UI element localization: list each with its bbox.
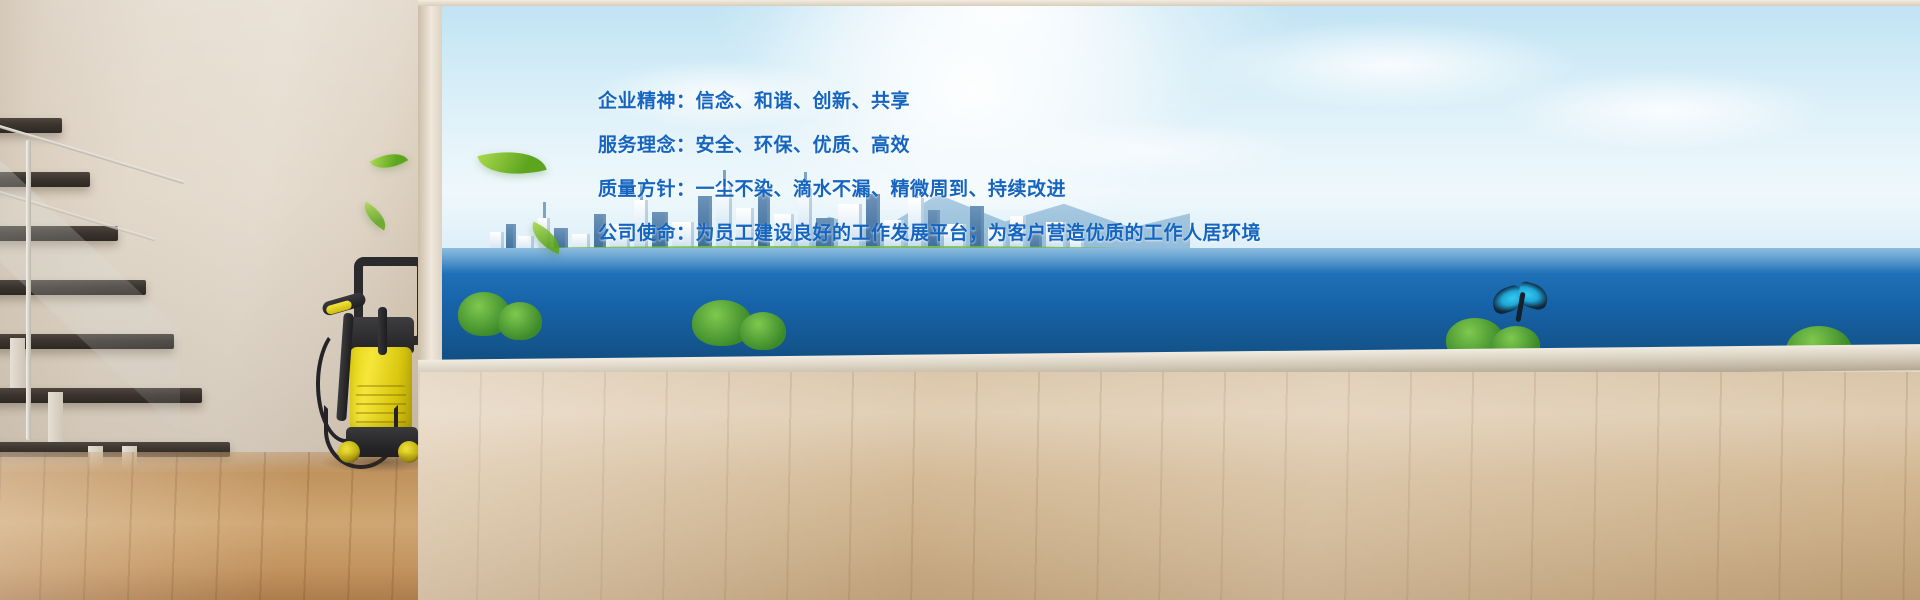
culture-line-spirit: 企业精神：信念、和谐、创新、共享	[598, 92, 1358, 111]
culture-line-quality: 质量方针：一尘不染、滴水不漏、精微周到、持续改进	[598, 180, 1358, 199]
main-floor-reflection	[418, 372, 1920, 600]
seascape-city-mural	[418, 0, 1920, 600]
floating-staircase	[0, 110, 270, 490]
pressure-washer-icon	[310, 255, 435, 470]
culture-line-service: 服务理念：安全、环保、优质、高效	[598, 136, 1358, 155]
ocean-shimmer	[440, 248, 1920, 274]
mural-top-frame	[418, 0, 1920, 6]
butterfly-icon	[1492, 282, 1550, 330]
culture-statement-block: 企业精神：信念、和谐、创新、共享 服务理念：安全、环保、优质、高效 质量方针：一…	[598, 92, 1358, 243]
tree-cluster	[740, 312, 786, 350]
corporate-culture-banner: 企业精神：信念、和谐、创新、共享 服务理念：安全、环保、优质、高效 质量方针：一…	[0, 0, 1920, 600]
culture-line-mission: 公司使命：为员工建设良好的工作发展平台；为客户营造优质的工作人居环境	[598, 224, 1358, 243]
tree-cluster	[498, 302, 542, 340]
mural-left-frame	[418, 0, 442, 372]
